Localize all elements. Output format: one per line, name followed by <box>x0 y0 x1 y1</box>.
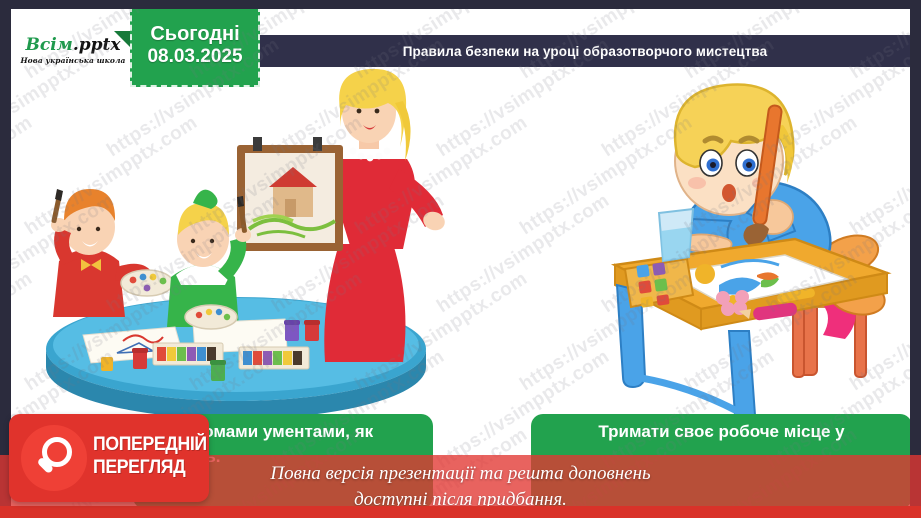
logo-main-text: Всім.pptx <box>25 37 120 54</box>
child-painting-at-desk-illustration <box>601 69 901 419</box>
glass-of-water <box>659 209 693 261</box>
logo-brand: Всім <box>25 35 72 55</box>
slide-title-bar: Правила безпеки на уроці образотворчого … <box>258 35 910 67</box>
child-left-figure <box>51 189 173 317</box>
date-badge: Сьогодні 08.03.2025 <box>130 9 260 87</box>
art-lesson-classroom-illustration <box>21 69 471 419</box>
date-badge-label: Сьогодні <box>150 23 239 46</box>
logo-subtitle: Нова українська школа <box>21 56 126 65</box>
preview-badge-label: ПОПЕРЕДНІЙ ПЕРЕГЛЯД <box>93 433 195 479</box>
slide-illustrations <box>11 69 910 419</box>
preview-badge[interactable]: ПОПЕРЕДНІЙ ПЕРЕГЛЯД <box>9 414 209 502</box>
purchase-overlay-strip <box>0 506 921 518</box>
app-window-frame: я прийомами ументами, як учитель. Тримат… <box>0 0 921 518</box>
preview-badge-line1: ПОПЕРЕДНІЙ <box>93 433 195 456</box>
purchase-notice-line1: Повна версія презентації та решта доповн… <box>270 461 650 487</box>
magnifier-icon <box>21 425 87 491</box>
page-title: Правила безпеки на уроці образотворчого … <box>403 44 768 59</box>
date-badge-value: 08.03.2025 <box>147 46 242 68</box>
framed-drawing <box>237 137 343 251</box>
preview-badge-line2: ПЕРЕГЛЯД <box>93 456 195 479</box>
